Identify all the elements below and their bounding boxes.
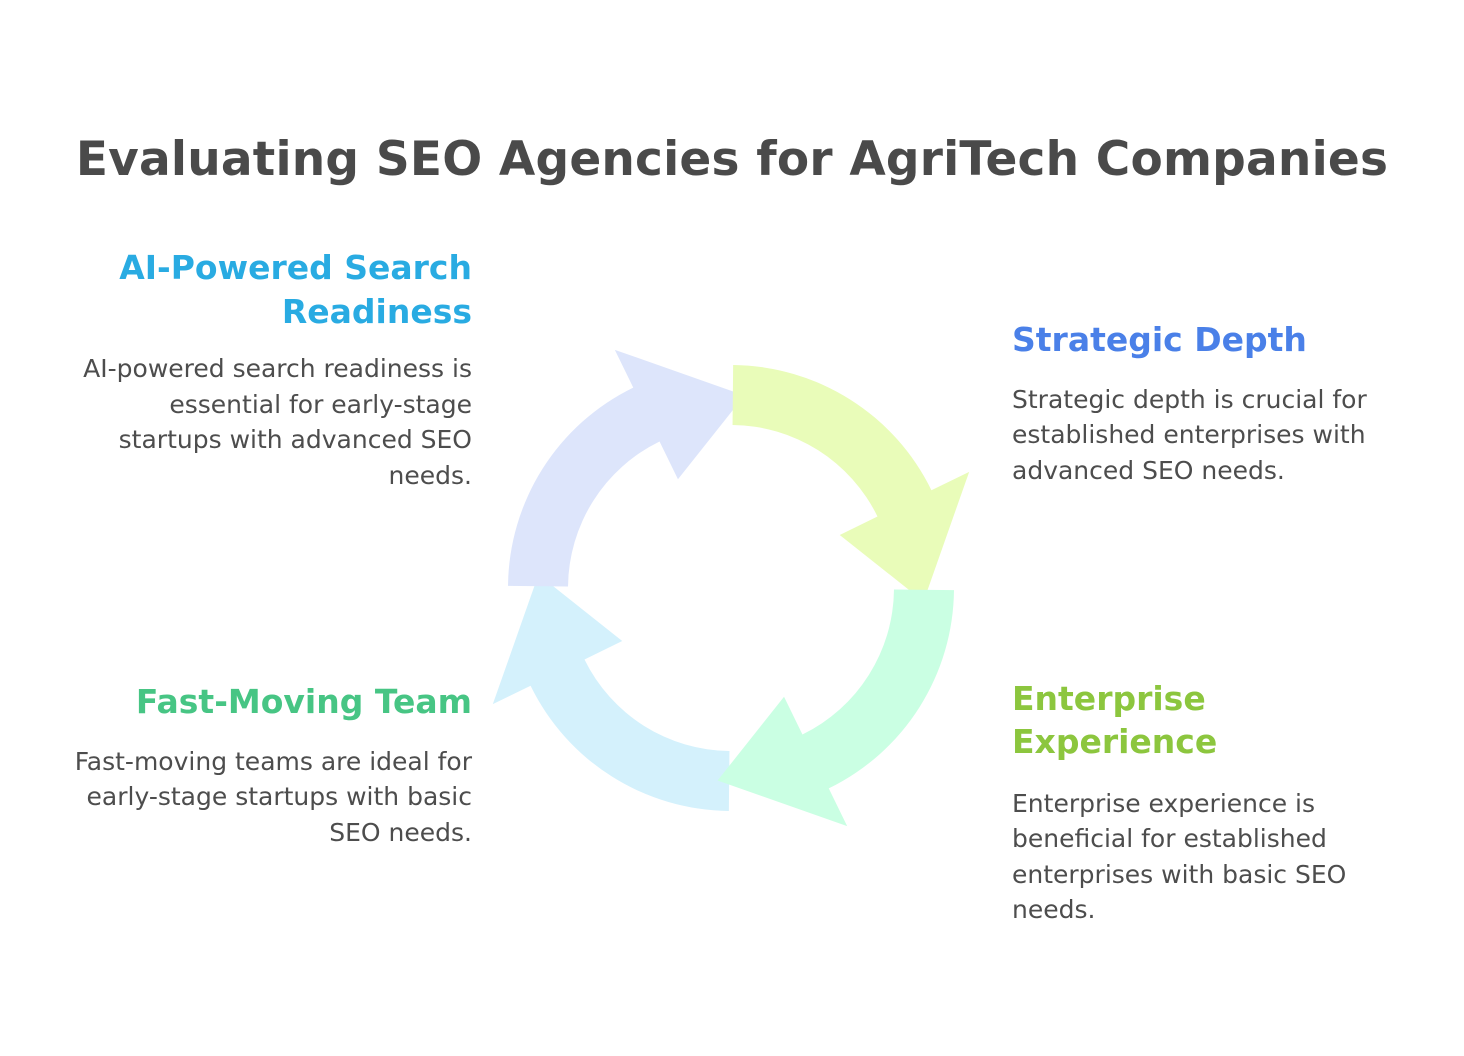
- quadrant-body-ai-powered-search-readiness: AI-powered search readiness is essential…: [72, 351, 472, 493]
- quadrant-ai-powered-search-readiness: AI-Powered Search Readiness AI-powered s…: [72, 246, 472, 493]
- cycle-segment-enterprise-experience: [733, 365, 970, 601]
- quadrant-heading-fast-moving-team: Fast-Moving Team: [72, 680, 472, 724]
- cycle-segment-fast-moving-team: [718, 590, 954, 827]
- quadrant-strategic-depth: Strategic Depth Strategic depth is cruci…: [1012, 318, 1410, 488]
- infographic-canvas: Evaluating SEO Agencies for AgriTech Com…: [0, 0, 1464, 1056]
- quadrant-enterprise-experience: Enterprise Experience Enterprise experie…: [1012, 678, 1410, 928]
- quadrant-body-enterprise-experience: Enterprise experience is beneficial for …: [1012, 786, 1410, 928]
- cycle-diagram-svg: [487, 344, 975, 832]
- cycle-diagram: [487, 344, 975, 832]
- cycle-segment-ai-powered-search-readiness: [493, 575, 730, 811]
- page-title: Evaluating SEO Agencies for AgriTech Com…: [0, 135, 1464, 186]
- quadrant-body-fast-moving-team: Fast-moving teams are ideal for early-st…: [72, 744, 472, 851]
- quadrant-heading-strategic-depth: Strategic Depth: [1012, 318, 1410, 362]
- cycle-segment-strategic-depth: [508, 350, 744, 587]
- quadrant-fast-moving-team: Fast-Moving Team Fast-moving teams are i…: [72, 680, 472, 850]
- quadrant-body-strategic-depth: Strategic depth is crucial for establish…: [1012, 382, 1410, 489]
- quadrant-heading-ai-powered-search-readiness: AI-Powered Search Readiness: [72, 246, 472, 333]
- quadrant-heading-enterprise-experience: Enterprise Experience: [1012, 678, 1410, 764]
